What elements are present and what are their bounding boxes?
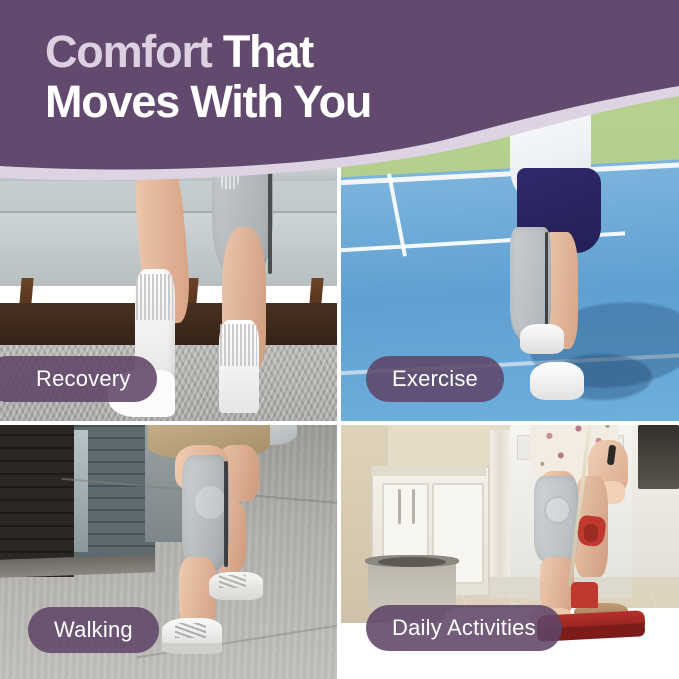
label-daily-activities: Daily Activities xyxy=(366,605,562,651)
page-title: Comfort That Moves With You xyxy=(45,27,645,127)
label-recovery: Recovery xyxy=(0,356,157,402)
label-walking-text: Walking xyxy=(54,617,133,643)
label-exercise: Exercise xyxy=(366,356,504,402)
infographic-canvas: Comfort That Moves With You Recovery Exe… xyxy=(0,0,679,679)
title-highlight: Comfort xyxy=(45,26,212,77)
label-recovery-text: Recovery xyxy=(36,366,131,392)
title-line2: Moves With You xyxy=(45,76,371,127)
panel-divider-horizontal xyxy=(0,421,679,425)
label-exercise-text: Exercise xyxy=(392,366,478,392)
label-daily-activities-text: Daily Activities xyxy=(392,615,536,641)
label-walking: Walking xyxy=(28,607,159,653)
title-line1-rest: That xyxy=(212,26,314,77)
